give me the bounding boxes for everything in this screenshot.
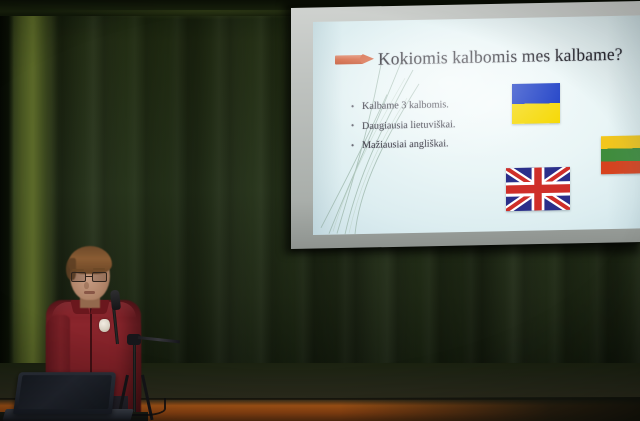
- lithuania-flag: [601, 135, 640, 174]
- presenter-mouth: [84, 291, 95, 294]
- slide-title: Kokiomis kalbomis mes kalbame?: [378, 44, 623, 70]
- slide-bullet-item: Mažiausiai angliškai.: [351, 138, 455, 151]
- ukraine-flag: [512, 83, 560, 124]
- slide-bullet-list: Kalbame 3 kalbomis. Daugiausia lietuvišk…: [351, 99, 455, 160]
- projection-screen-surface: Kokiomis kalbomis mes kalbame? Kalbame 3…: [313, 15, 640, 235]
- presentation-photo: Kokiomis kalbomis mes kalbame? Kalbame 3…: [0, 0, 640, 421]
- microphone-icon: [110, 290, 121, 311]
- laptop-computer: [13, 372, 116, 414]
- right-arrow-icon: [335, 53, 375, 67]
- united-kingdom-flag: [506, 167, 570, 211]
- glasses-icon: [71, 272, 109, 283]
- presenter-nose: [84, 282, 89, 289]
- laptop-display: [18, 375, 112, 409]
- slide-title-row: Kokiomis kalbomis mes kalbame?: [335, 44, 623, 71]
- eyebrow-left: [72, 269, 84, 271]
- slide-bullet-item: Kalbame 3 kalbomis.: [351, 99, 455, 112]
- stage-floor-shadow: [340, 397, 640, 421]
- eyebrow-right: [93, 268, 105, 270]
- school-badge: [99, 319, 110, 332]
- slide-bullet-item: Daugiausia lietuviškai.: [351, 119, 455, 132]
- curtain-dark-edge: [0, 0, 14, 421]
